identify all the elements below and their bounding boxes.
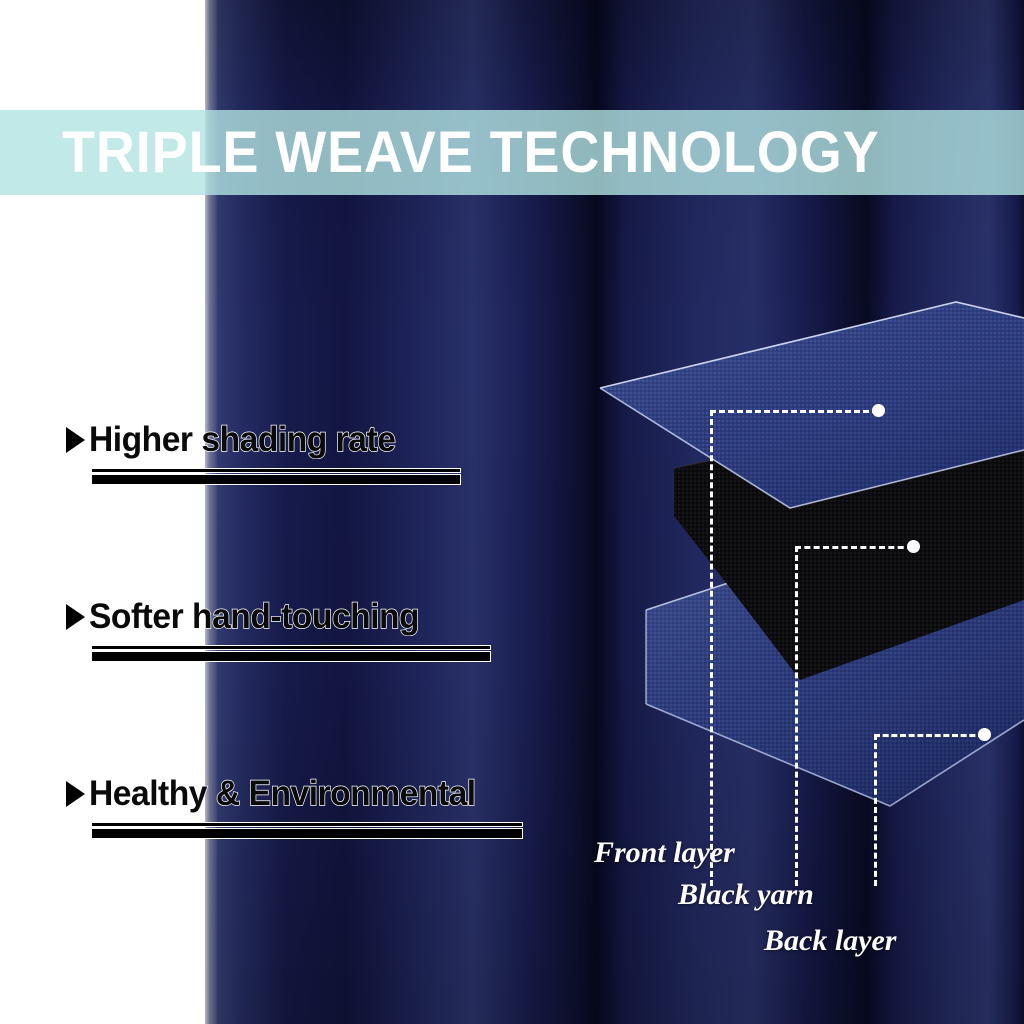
- feature-underline: [91, 645, 586, 662]
- feature-item-healthy-environmental: Healthy & Environmental: [66, 774, 586, 839]
- underline-thick-rule: [91, 474, 461, 485]
- triangle-right-icon: [66, 604, 85, 630]
- feature-item-softer-hand-touching: Softer hand-touching: [66, 597, 586, 662]
- back-layer-callout-dot: [978, 728, 991, 741]
- feature-line: Softer hand-touching: [66, 597, 586, 637]
- product-infographic: TRIPLE WEAVE TECHNOLOGY Higher shading r…: [0, 0, 1024, 1024]
- triangle-right-icon: [66, 427, 85, 453]
- triangle-right-icon: [66, 781, 85, 807]
- feature-item-higher-shading-rate: Higher shading rate: [66, 420, 586, 485]
- feature-label: Higher shading rate: [89, 420, 395, 460]
- feature-line: Higher shading rate: [66, 420, 586, 460]
- underline-thick-rule: [91, 828, 523, 839]
- banner-title: TRIPLE WEAVE TECHNOLOGY: [62, 124, 880, 182]
- feature-underline: [91, 468, 586, 485]
- underline-thin-rule: [91, 468, 461, 473]
- feature-label: Softer hand-touching: [89, 597, 419, 637]
- feature-list: Higher shading rate Softer hand-touching…: [66, 420, 586, 839]
- front-layer-callout-dot: [872, 404, 885, 417]
- front-layer-label: Front layer: [594, 836, 735, 870]
- underline-thin-rule: [91, 645, 491, 650]
- feature-label: Healthy & Environmental: [89, 774, 476, 814]
- headline-banner: TRIPLE WEAVE TECHNOLOGY: [0, 110, 1024, 195]
- feature-underline: [91, 822, 586, 839]
- front-layer-shading: [600, 302, 1024, 508]
- fabric-layer-diagram: [590, 300, 1024, 860]
- feature-line: Healthy & Environmental: [66, 774, 586, 814]
- back-layer-label: Back layer: [764, 924, 896, 958]
- black-yarn-label: Black yarn: [678, 878, 814, 912]
- fabric-layer-front: [590, 300, 1024, 860]
- underline-thick-rule: [91, 651, 491, 662]
- underline-thin-rule: [91, 822, 523, 827]
- black-yarn-callout-dot: [907, 540, 920, 553]
